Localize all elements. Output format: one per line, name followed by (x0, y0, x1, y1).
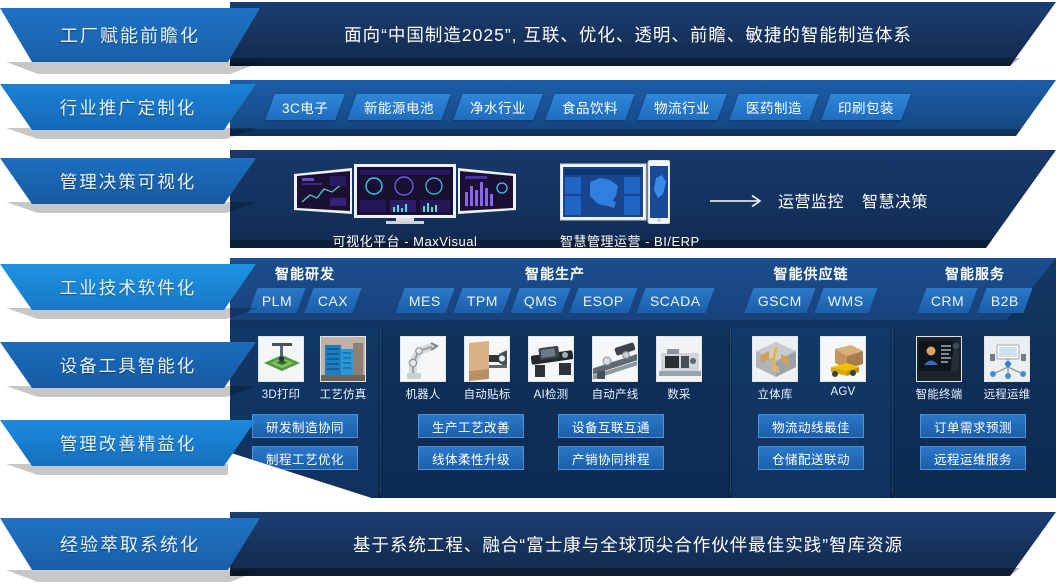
software-chip-label: B2B (982, 293, 1028, 309)
row1-banner-text: 面向“中国制造2025”, 互联、优化、透明、前瞻、敏捷的智能制造体系 (344, 22, 912, 47)
device-tile-caption: 3D打印 (252, 386, 310, 402)
outcome-tag[interactable]: 产销协同排程 (558, 446, 664, 470)
row2-banner: 3C电子 新能源电池 净水行业 食品饮料 物流行业 医药制造 印刷包装 (230, 80, 1056, 136)
industry-pill[interactable]: 3C电子 (265, 94, 345, 120)
device-tile-caption: 自动贴标 (458, 386, 516, 402)
bierp-caption: 智慧管理运营 - BI/ERP (560, 231, 700, 250)
outcome-tag[interactable]: 线体柔性升级 (418, 446, 524, 470)
device-tile-caption: 工艺仿真 (314, 386, 372, 402)
row1-banner: 面向“中国制造2025”, 互联、优化、透明、前瞻、敏捷的智能制造体系 (230, 2, 1056, 66)
auto-labeling-icon (464, 336, 510, 382)
software-chip[interactable]: CAX (304, 288, 361, 313)
software-chip-label: QMS (515, 293, 566, 309)
software-chips-service: CRM B2B (894, 288, 1056, 313)
row7-label-text: 经验萃取系统化 (60, 531, 200, 557)
maxvisual-caption: 可视化平台 - MaxVisual (290, 231, 520, 250)
right-arrow-icon (710, 194, 766, 208)
software-chip[interactable]: GSCM (745, 288, 816, 313)
software-chip[interactable]: CRM (918, 288, 978, 313)
device-tile-auto-production-line[interactable]: 自动产线 (586, 336, 644, 402)
device-tile-caption: AI检测 (522, 386, 580, 402)
bi-erp-dashboard-icon (560, 160, 670, 224)
row4-label-text: 工业技术软件化 (60, 275, 197, 300)
device-tile-caption: 远程运维 (976, 386, 1038, 402)
software-chip-label: ESOP (574, 293, 633, 309)
software-chips-supplychain: GSCM WMS (732, 288, 890, 313)
software-chip-label: WMS (819, 293, 873, 309)
row3-outcome: 智慧决策 (862, 188, 928, 212)
row7-label: 经验萃取系统化 (0, 518, 260, 570)
ai-inspection-icon (528, 336, 574, 382)
industry-pill-label: 食品饮料 (550, 97, 630, 117)
remote-maintenance-icon (984, 336, 1030, 382)
software-chip[interactable]: B2B (977, 288, 1032, 313)
device-tile-caption: 自动产线 (586, 386, 644, 402)
row5-label: 设备工具智能化 (0, 342, 256, 388)
software-chips-production: MES TPM QMS ESOP SCADA (382, 288, 728, 313)
device-tile-process-simulation[interactable]: 工艺仿真 (314, 336, 372, 402)
row2-label-text: 行业推广定制化 (60, 95, 197, 120)
device-tile-remote-maintenance[interactable]: 远程运维 (976, 336, 1038, 402)
industry-pill-label: 净水行业 (458, 97, 538, 117)
industry-pill-label: 物流行业 (642, 97, 722, 117)
bierp-device-group: 智慧管理运营 - BI/ERP (560, 160, 700, 250)
industry-pill[interactable]: 物流行业 (638, 94, 727, 120)
industry-pill-label: 3C电子 (270, 97, 340, 117)
outcome-tag[interactable]: 远程运维服务 (920, 446, 1026, 470)
outcome-tag[interactable]: 物流动线最佳 (758, 414, 864, 438)
row5-label-text: 设备工具智能化 (60, 353, 197, 378)
software-chip-label: CAX (309, 293, 357, 309)
row7-label-shadow (6, 570, 262, 582)
software-chip[interactable]: MES (395, 288, 454, 313)
industry-pill-label: 印刷包装 (826, 97, 906, 117)
device-tile-caption: 数采 (650, 386, 708, 402)
industry-pill[interactable]: 印刷包装 (822, 94, 911, 120)
outcome-tag[interactable]: 研发制造协同 (252, 414, 358, 438)
row2-label: 行业推广定制化 (0, 84, 256, 130)
device-tile-caption: AGV (814, 386, 872, 398)
device-tile-caption: 立体库 (746, 386, 804, 402)
industry-pill[interactable]: 净水行业 (454, 94, 543, 120)
software-chip[interactable]: TPM (453, 288, 511, 313)
outcome-tag[interactable]: 设备互联互通 (558, 414, 664, 438)
outcome-tag[interactable]: 订单需求预测 (920, 414, 1026, 438)
device-tile-robot[interactable]: 机器人 (394, 336, 452, 402)
triple-monitor-icon (290, 162, 520, 224)
software-chip[interactable]: WMS (815, 288, 878, 313)
row3-label-text: 管理决策可视化 (60, 169, 197, 194)
device-tile-auto-labeling[interactable]: 自动贴标 (458, 336, 516, 402)
software-chip-label: SCADA (641, 293, 710, 309)
industry-pill[interactable]: 新能源电池 (348, 94, 451, 120)
software-chip-label: CRM (922, 293, 973, 309)
outcome-tag[interactable]: 生产工艺改善 (418, 414, 524, 438)
smart-terminal-icon (916, 336, 962, 382)
device-tile-caption: 机器人 (394, 386, 452, 402)
robot-arm-icon (400, 336, 446, 382)
row1-label-shadow (6, 62, 262, 74)
device-tile-agv[interactable]: AGV (814, 336, 872, 398)
software-chip-label: TPM (458, 293, 507, 309)
process-simulation-icon (320, 336, 366, 382)
row3-label: 管理决策可视化 (0, 158, 256, 204)
software-row-bevel (230, 320, 1056, 328)
device-tile-smart-terminal[interactable]: 智能终端 (908, 336, 970, 402)
device-tile-3d-printing[interactable]: 3D打印 (252, 336, 310, 402)
device-tile-caption: 智能终端 (908, 386, 970, 402)
infographic-canvas: 面向“中国制造2025”, 互联、优化、透明、前瞻、敏捷的智能制造体系 工厂赋能… (0, 0, 1056, 584)
software-chip[interactable]: ESOP (570, 288, 638, 313)
row3-banner: 可视化平台 - MaxVisual 智慧管理运营 - BI/ERP (230, 150, 1056, 248)
agv-icon (820, 336, 866, 382)
group-title-supplychain: 智能供应链 (732, 264, 890, 284)
device-tile-data-acquisition[interactable]: 数采 (650, 336, 708, 402)
row6-label: 管理改善精益化 (0, 420, 256, 466)
software-chip[interactable]: PLM (248, 288, 305, 313)
software-chip-label: MES (400, 293, 450, 309)
row7-banner: 基于系统工程、融合“富士康与全球顶尖合作伙伴最佳实践”智库资源 (230, 512, 1056, 576)
row7-banner-text: 基于系统工程、融合“富士康与全球顶尖合作伙伴最佳实践”智库资源 (353, 532, 903, 557)
software-chip-label: GSCM (749, 293, 811, 309)
group-title-service: 智能服务 (894, 264, 1056, 284)
row3-outcome-list: 运营监控 智慧决策 (778, 188, 928, 212)
maxvisual-monitor-group: 可视化平台 - MaxVisual (290, 162, 520, 250)
software-chip-label: PLM (253, 293, 301, 309)
data-acquisition-icon (656, 336, 702, 382)
row1-label-text: 工厂赋能前瞻化 (60, 22, 200, 48)
software-chip[interactable]: SCADA (637, 288, 715, 313)
industry-pill-list: 3C电子 新能源电池 净水行业 食品饮料 物流行业 医药制造 印刷包装 (270, 94, 906, 120)
row3-outcome: 运营监控 (778, 188, 844, 212)
row6-label-text: 管理改善精益化 (60, 431, 197, 456)
auto-production-line-icon (592, 336, 638, 382)
row1-label: 工厂赋能前瞻化 (0, 8, 260, 62)
industry-pill-label: 新能源电池 (352, 97, 446, 117)
outcome-tag[interactable]: 仓储配送联动 (758, 446, 864, 470)
industry-pill-label: 医药制造 (734, 97, 814, 117)
software-chip[interactable]: QMS (510, 288, 570, 313)
asrs-warehouse-icon (752, 336, 798, 382)
device-tile-asrs[interactable]: 立体库 (746, 336, 804, 402)
device-tile-ai-inspection[interactable]: AI检测 (522, 336, 580, 402)
3d-printer-icon (258, 336, 304, 382)
group-title-production: 智能生产 (382, 264, 728, 284)
industry-pill[interactable]: 医药制造 (730, 94, 819, 120)
row4-label: 工业技术软件化 (0, 264, 256, 310)
industry-pill[interactable]: 食品饮料 (546, 94, 635, 120)
capability-matrix-panel: 智能研发 智能生产 智能供应链 智能服务 PLM CAX MES TPM QMS… (230, 258, 1056, 498)
